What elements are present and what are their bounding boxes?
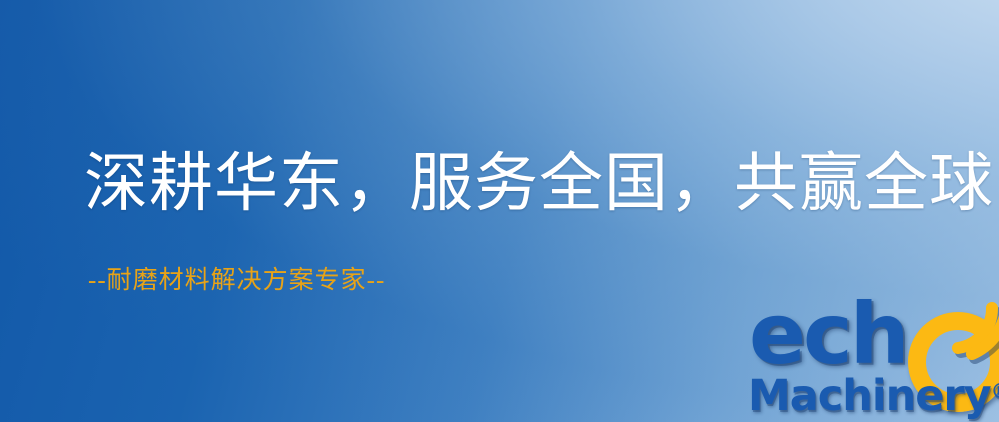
logo-wordmark-text: ech bbox=[749, 285, 907, 383]
promo-banner: 深耕华东，服务全国，共赢全球 --耐磨材料解决方案专家-- ech Machin… bbox=[0, 0, 999, 422]
logo-wordmark: ech bbox=[749, 292, 907, 376]
logo-tagline-text: Machinery bbox=[748, 371, 991, 421]
logo-o-mark bbox=[908, 298, 999, 378]
registered-trademark-icon: ® bbox=[991, 379, 999, 403]
page-subtitle: --耐磨材料解决方案专家-- bbox=[88, 268, 385, 293]
company-logo[interactable]: ech Machinery® bbox=[745, 292, 999, 422]
logo-tagline: Machinery® bbox=[748, 370, 999, 418]
page-title: 深耕华东，服务全国，共赢全球 bbox=[84, 152, 994, 216]
signal-arcs-icon bbox=[952, 292, 999, 364]
